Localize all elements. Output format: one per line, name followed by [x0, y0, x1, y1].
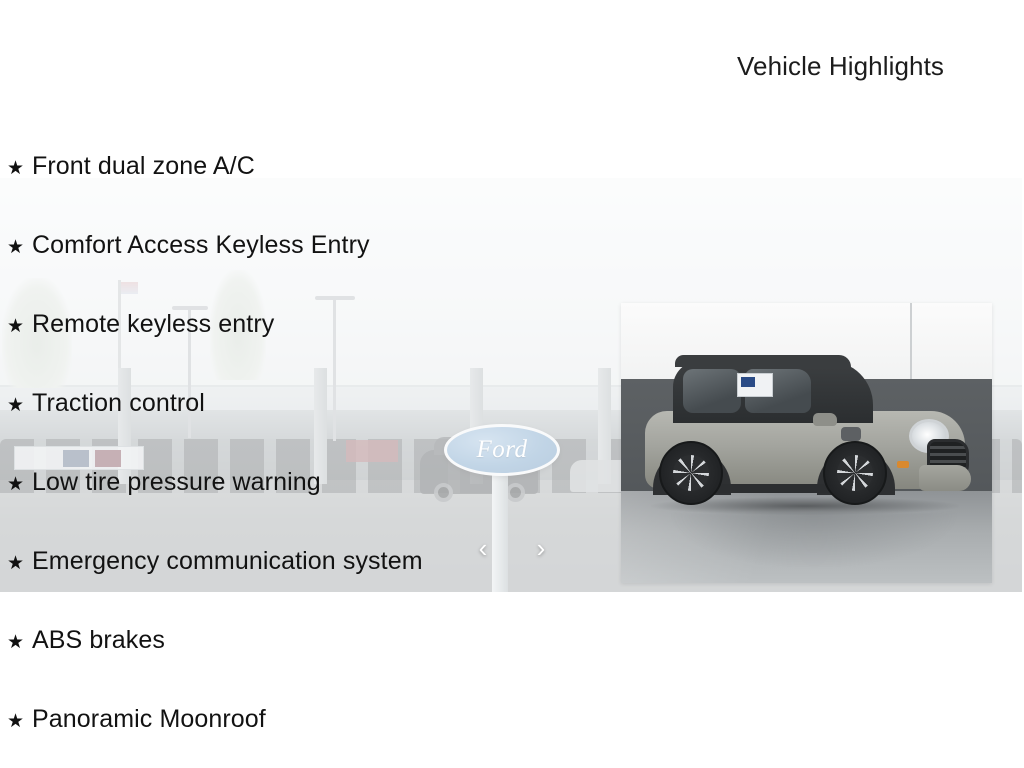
vehicle-side-vent	[841, 427, 861, 441]
vehicle-side-indicator	[897, 461, 909, 468]
star-bullet-icon: ★	[0, 159, 32, 178]
page-title: Vehicle Highlights	[737, 51, 944, 82]
list-item: ★ Low tire pressure warning	[0, 468, 620, 547]
highlight-label: Traction control	[32, 389, 205, 418]
vehicle-side-mirror	[813, 413, 837, 426]
showroom-floor-reflection	[669, 513, 959, 569]
highlight-label: Emergency communication system	[32, 547, 423, 576]
list-item: ★ ABS brakes	[0, 626, 620, 705]
list-item: ★ Remote keyless entry	[0, 310, 620, 389]
list-item: ★ Front dual zone A/C	[0, 152, 620, 231]
star-bullet-icon: ★	[0, 712, 32, 731]
star-bullet-icon: ★	[0, 317, 32, 336]
star-bullet-icon: ★	[0, 475, 32, 494]
star-bullet-icon: ★	[0, 396, 32, 415]
highlight-label: Remote keyless entry	[32, 310, 274, 339]
vehicle-highlights-page: Ford ‹ ›	[0, 0, 1024, 768]
highlight-label: Panoramic Moonroof	[32, 705, 266, 734]
list-item: ★ Panoramic Moonroof	[0, 705, 620, 768]
vehicle-rear-wheel	[659, 441, 723, 505]
highlight-label: Low tire pressure warning	[32, 468, 321, 497]
vehicle-roof	[675, 355, 851, 367]
list-item: ★ Emergency communication system	[0, 547, 620, 626]
highlight-label: Front dual zone A/C	[32, 152, 255, 181]
highlight-label: ABS brakes	[32, 626, 165, 655]
window-price-sticker	[737, 373, 773, 397]
wheel-spokes	[837, 455, 873, 491]
vehicle-highlights-list: ★ Front dual zone A/C ★ Comfort Access K…	[0, 152, 620, 768]
vehicle-rear-window	[683, 369, 741, 413]
list-item: ★ Comfort Access Keyless Entry	[0, 231, 620, 310]
vehicle-front-wheel	[823, 441, 887, 505]
vehicle-front-bumper	[919, 465, 971, 491]
mini-cooper-vehicle	[645, 361, 965, 511]
wheel-spokes	[673, 455, 709, 491]
inset-vehicle-photo[interactable]	[621, 303, 992, 583]
list-item: ★ Traction control	[0, 389, 620, 468]
star-bullet-icon: ★	[0, 633, 32, 652]
star-bullet-icon: ★	[0, 238, 32, 257]
star-bullet-icon: ★	[0, 554, 32, 573]
vehicle-side-skirt	[703, 484, 833, 493]
highlight-label: Comfort Access Keyless Entry	[32, 231, 370, 260]
